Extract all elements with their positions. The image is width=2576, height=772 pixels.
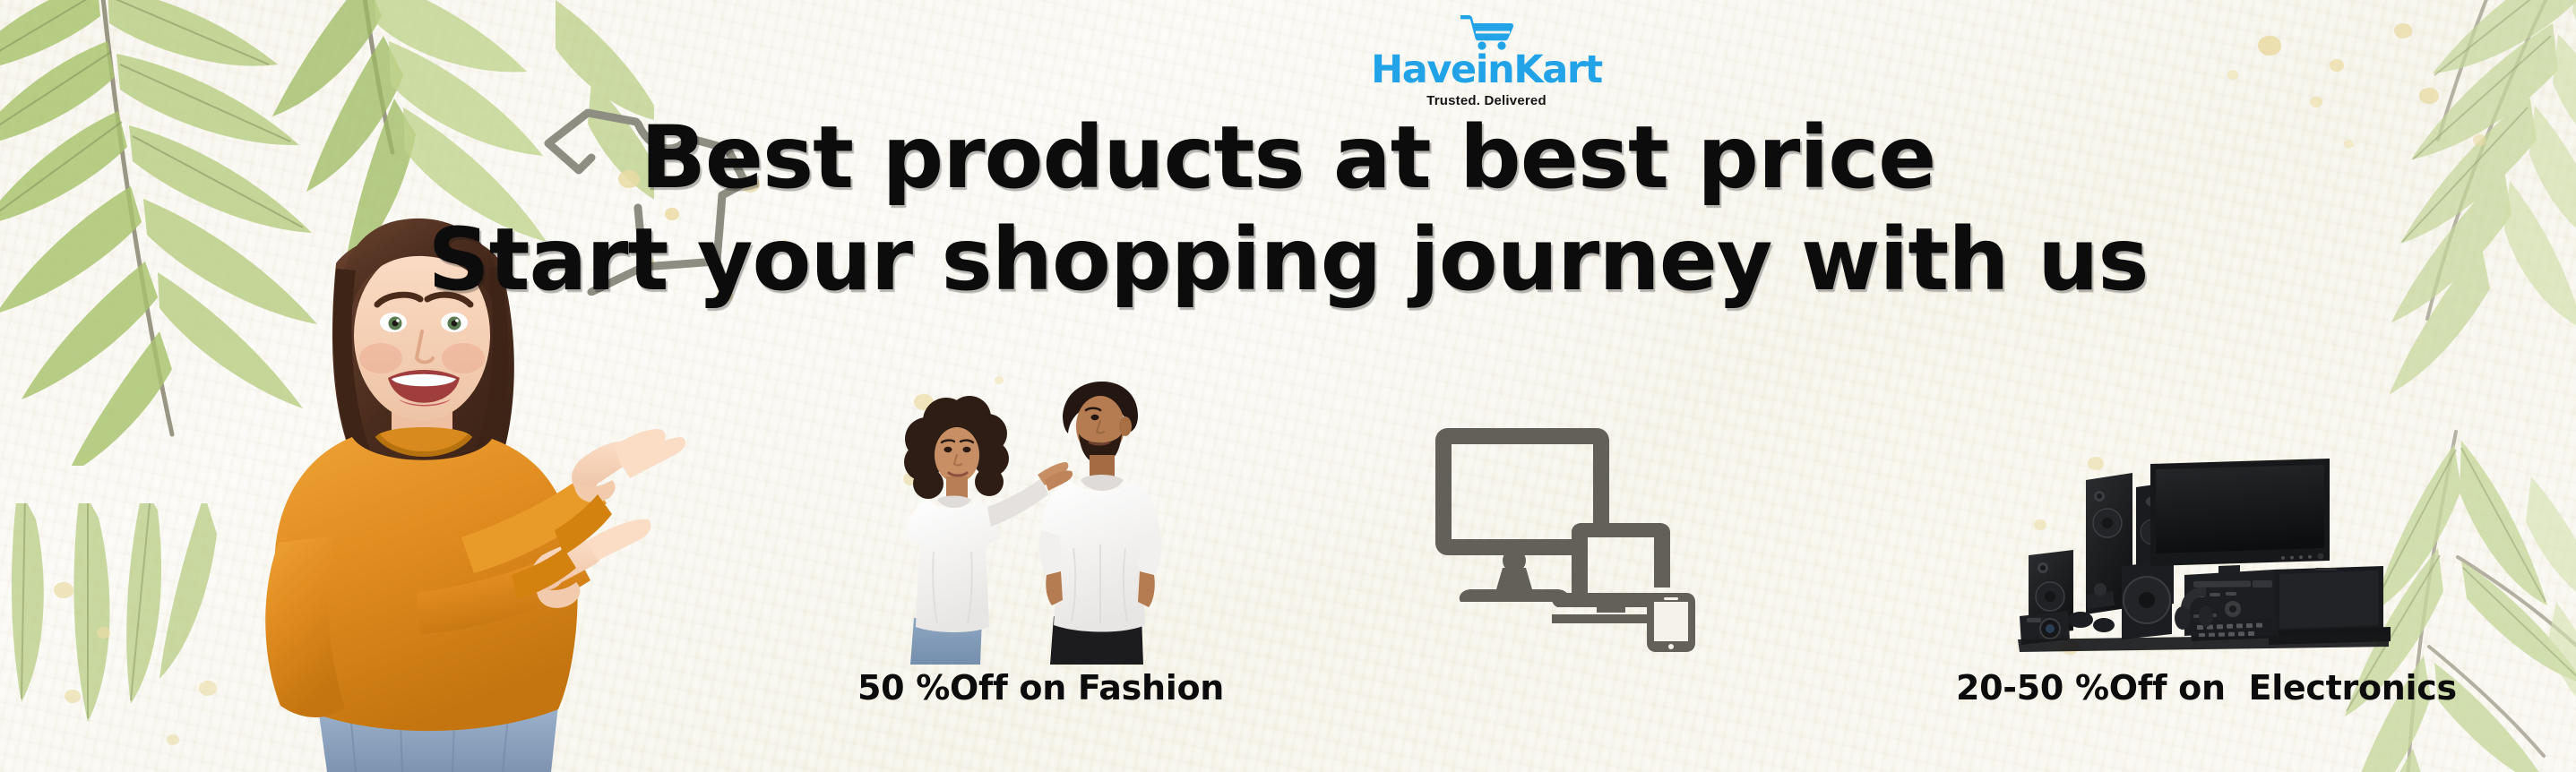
headline: Best products at best price Start your s… — [0, 115, 2576, 305]
headline-line-1: Best products at best price — [0, 115, 2576, 202]
brand-logo[interactable]: HaveinKart Trusted. Delivered — [1339, 13, 1634, 108]
promo-label-electronics: 20-50 %Off on Electronics — [1956, 668, 2457, 708]
promo-banner: HaveinKart Trusted. Delivered Best produ… — [0, 0, 2576, 772]
shopping-cart-icon — [1459, 13, 1514, 50]
headline-line-2: Start your shopping journey with us — [0, 217, 2576, 305]
devices-icons — [1414, 419, 1701, 652]
brand-tagline: Trusted. Delivered — [1339, 93, 1634, 108]
electronics-bundle-image — [2014, 455, 2391, 654]
promo-label-fashion: 50 %Off on Fashion — [857, 668, 1224, 708]
brand-name: HaveinKart — [1339, 51, 1634, 90]
fashion-models-image — [887, 369, 1174, 665]
